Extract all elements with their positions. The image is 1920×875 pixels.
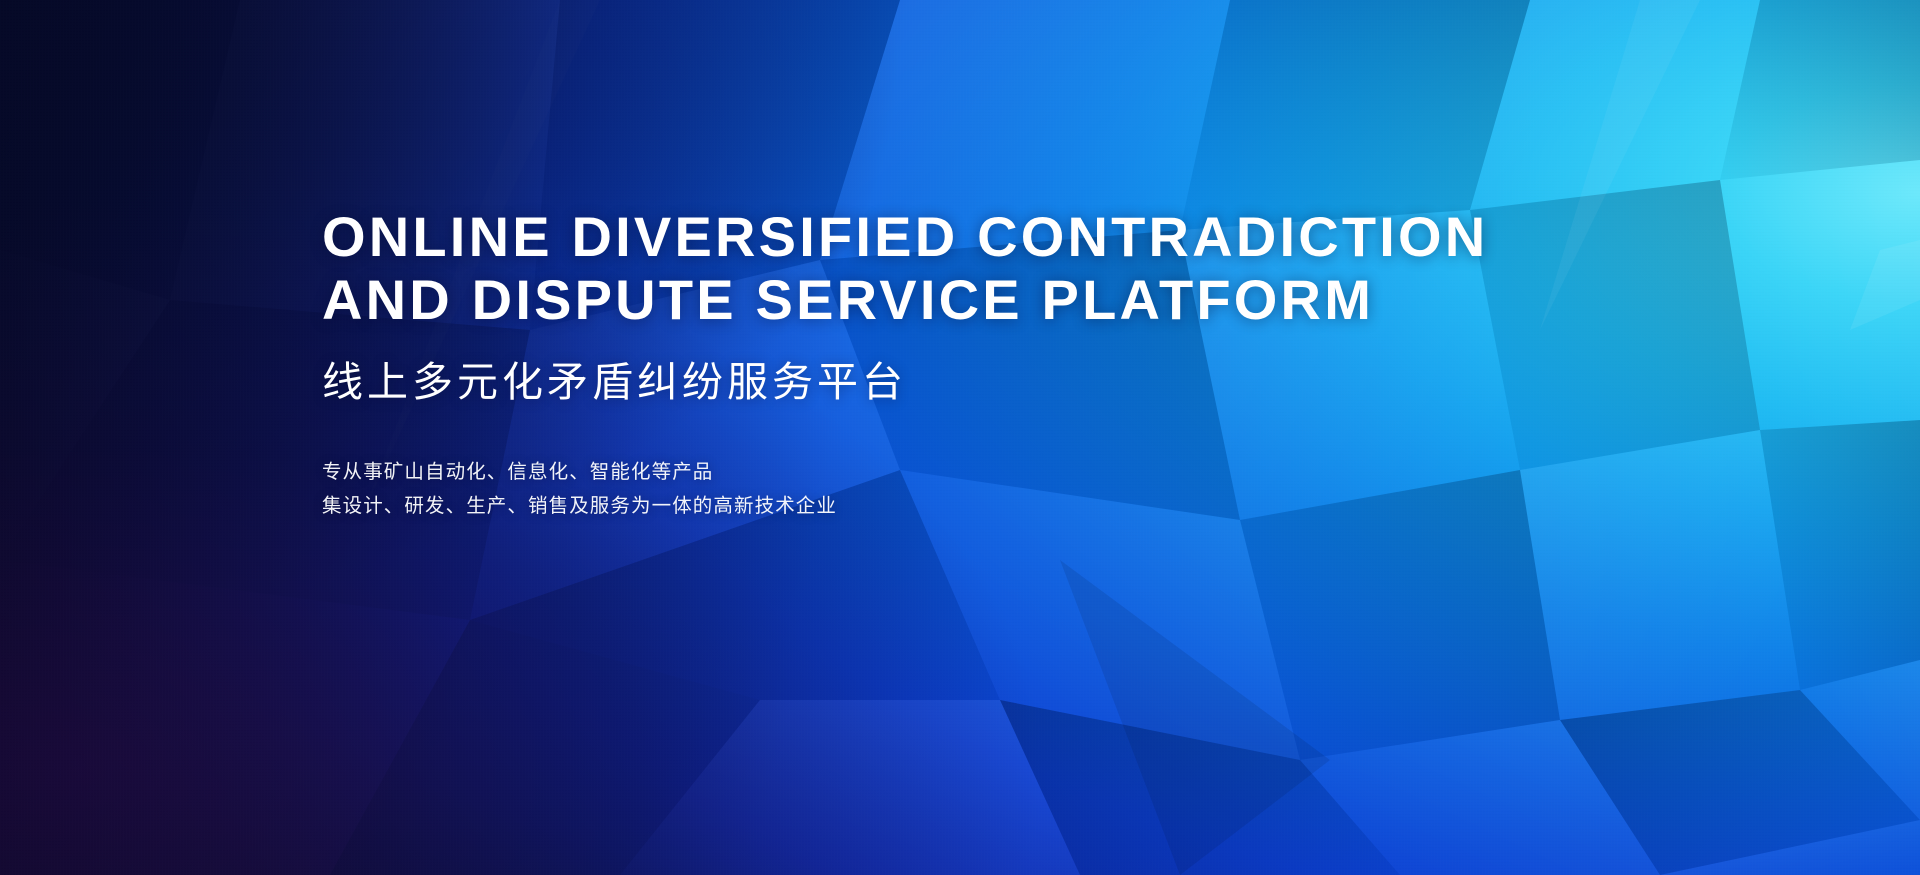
hero-banner: ONLINE DIVERSIFIED CONTRADICTION AND DIS… [0, 0, 1920, 875]
banner-title-chinese: 线上多元化矛盾纠纷服务平台 [322, 357, 1742, 407]
banner-description-line-2: 集设计、研发、生产、销售及服务为一体的高新技术企业 [322, 489, 1742, 523]
banner-title-english: ONLINE DIVERSIFIED CONTRADICTION AND DIS… [322, 205, 1742, 331]
banner-description-line-1: 专从事矿山自动化、信息化、智能化等产品 [322, 455, 1742, 489]
banner-content: ONLINE DIVERSIFIED CONTRADICTION AND DIS… [322, 205, 1742, 523]
banner-description: 专从事矿山自动化、信息化、智能化等产品 集设计、研发、生产、销售及服务为一体的高… [322, 455, 1742, 523]
